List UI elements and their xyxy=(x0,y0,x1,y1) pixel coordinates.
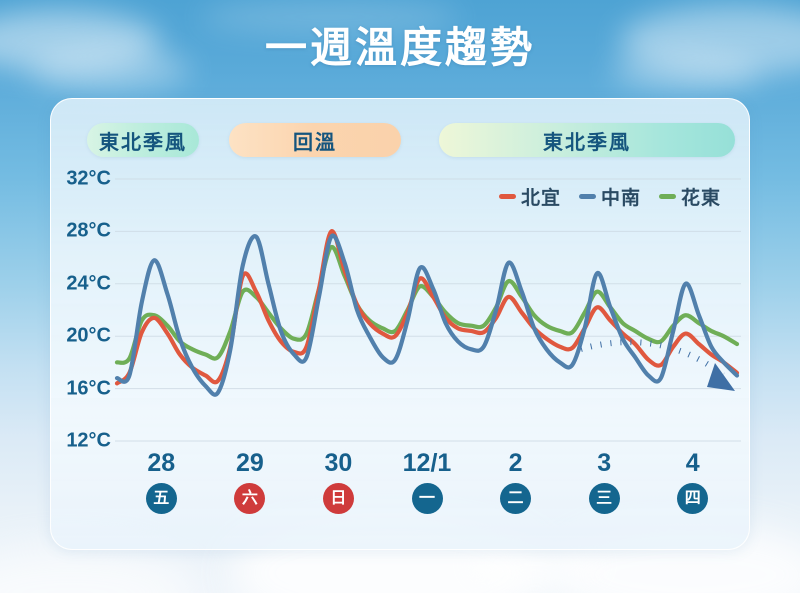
y-axis-tick-24: 24°C xyxy=(66,272,111,295)
series-line-花東 xyxy=(117,247,737,363)
y-axis-tick-12: 12°C xyxy=(66,430,111,453)
series-line-北宜 xyxy=(117,231,737,383)
series-line-中南 xyxy=(117,236,737,395)
y-axis-tick-28: 28°C xyxy=(66,220,111,243)
weekday-badge: 三 xyxy=(589,483,620,514)
weekday-badge: 二 xyxy=(500,483,531,514)
x-axis-labels: 28五29六30日12/1一2二3三4四 xyxy=(51,451,750,550)
y-axis-tick-20: 20°C xyxy=(66,325,111,348)
weekday-badge: 五 xyxy=(146,483,177,514)
x-axis-day-2: 30日 xyxy=(303,451,373,514)
cloud-decoration xyxy=(0,545,200,593)
x-axis-day-1: 29六 xyxy=(215,451,285,514)
x-axis-date-label: 4 xyxy=(658,451,728,476)
weekday-badge: 四 xyxy=(677,483,708,514)
x-axis-day-4: 2二 xyxy=(481,451,551,514)
weekday-badge: 日 xyxy=(323,483,354,514)
y-axis-tick-32: 32°C xyxy=(66,168,111,191)
x-axis-date-label: 28 xyxy=(126,451,196,476)
x-axis-day-6: 4四 xyxy=(658,451,728,514)
weekday-badge: 一 xyxy=(412,483,443,514)
page-title: 一週溫度趨勢 xyxy=(0,14,800,75)
x-axis-date-label: 12/1 xyxy=(392,451,462,476)
x-axis-date-label: 3 xyxy=(569,451,639,476)
x-axis-day-0: 28五 xyxy=(126,451,196,514)
x-axis-day-3: 12/1一 xyxy=(392,451,462,514)
x-axis-date-label: 30 xyxy=(303,451,373,476)
x-axis-day-5: 3三 xyxy=(569,451,639,514)
x-axis-date-label: 29 xyxy=(215,451,285,476)
chart-card: 東北季風回溫東北季風 北宜中南花東 32°C28°C24°C20°C16°C12… xyxy=(50,98,750,550)
weather-infographic: 一週溫度趨勢 東北季風回溫東北季風 北宜中南花東 32°C28°C24°C20°… xyxy=(0,0,800,593)
weekday-badge: 六 xyxy=(234,483,265,514)
x-axis-date-label: 2 xyxy=(481,451,551,476)
y-axis-tick-16: 16°C xyxy=(66,377,111,400)
